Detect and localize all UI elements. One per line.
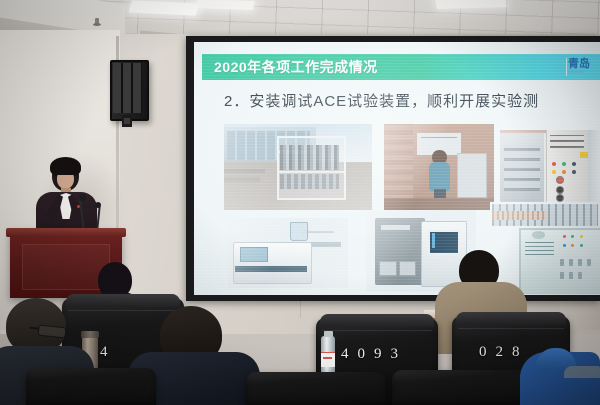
- photo-rails: [504, 144, 540, 190]
- bottle-cap: [324, 331, 333, 337]
- photo-brand-label: [381, 225, 410, 230]
- photo-drawer: [399, 261, 416, 276]
- chair-headrest: [456, 312, 566, 325]
- speaker-mount-bracket: [122, 115, 132, 127]
- microphone-icon: [79, 194, 86, 201]
- slide-header-banner: 2020年各项工作完成情况: [202, 54, 600, 80]
- thermos-cap: [81, 331, 99, 338]
- bottle-label: [321, 352, 335, 367]
- photo-steps: [224, 169, 265, 173]
- photo-instrument-strip: [235, 266, 307, 272]
- seat-number: 028: [479, 344, 529, 361]
- chair: [392, 370, 532, 405]
- speaker-grille: [113, 63, 142, 113]
- photo-toggle-switch: [560, 272, 564, 279]
- photo-toggle-switch: [569, 272, 573, 279]
- slide-photo-benchtop-instrument: [228, 218, 348, 288]
- photo-panel-badge: [532, 231, 545, 238]
- photo-toggle-switch: [569, 259, 573, 266]
- podium-top-surface: [6, 228, 126, 237]
- presenter-fringe: [55, 166, 76, 175]
- sprinkler-icon: [95, 18, 99, 25]
- seat-number: 4: [100, 344, 119, 361]
- slide-logo-divider: [566, 58, 567, 76]
- photo-piping: [280, 145, 339, 171]
- photo-indicator-light: [562, 170, 566, 174]
- projection-screen: 2020年各项工作完成情况 青岛 QINGDAO 2．安装调试ACE试验装置，顺…: [194, 42, 600, 295]
- logo-sub-text: QINGDAO: [568, 70, 585, 75]
- attendee-shoulder: [564, 366, 600, 378]
- photo-knob: [556, 186, 564, 194]
- photo-machine: [457, 153, 488, 198]
- chair-seam: [68, 310, 178, 311]
- photo-copper-coils: [492, 211, 547, 220]
- photo-indicator-light: [552, 170, 556, 174]
- photo-vent-louvers: [550, 135, 584, 148]
- chair: [26, 368, 156, 405]
- photo-piping: [280, 174, 339, 189]
- slide-photo-control-panel: [490, 202, 600, 294]
- photo-toggle-switch: [578, 259, 582, 266]
- photo-indicator-light: [552, 162, 556, 166]
- organization-logo: 青岛 QINGDAO: [568, 56, 598, 78]
- photo-steps: [224, 177, 260, 181]
- photo-instrument-display: [240, 247, 268, 262]
- photo-toggle-switch: [587, 259, 591, 266]
- slide-photo-control-cabinet: [500, 130, 600, 210]
- photo-indicator-light: [572, 162, 576, 166]
- conference-room-photo: 2020年各项工作完成情况 青岛 QINGDAO 2．安装调试ACE试验装置，顺…: [0, 0, 600, 405]
- photo-beaker: [290, 222, 308, 241]
- slide-photo-operator: [384, 124, 494, 210]
- microphone-icon: [95, 202, 101, 208]
- slide-body-text: 2．安装调试ACE试验装置，顺利开展实验测: [224, 90, 600, 111]
- logo-main-text: 青岛: [568, 59, 590, 70]
- chair-seam: [458, 328, 564, 329]
- presentation-slide: 2020年各项工作完成情况 青岛 QINGDAO 2．安装调试ACE试验装置，顺…: [194, 42, 600, 295]
- photo-drawer: [379, 261, 396, 276]
- photo-panel-text: [525, 242, 554, 255]
- photo-side-panel: [588, 130, 600, 210]
- chair-headrest: [320, 314, 434, 327]
- slide-photo-equipment-skid: [224, 124, 372, 210]
- photo-floor: [384, 198, 494, 210]
- photo-toggle-switch: [560, 259, 564, 266]
- photo-toggle-switch: [578, 272, 582, 279]
- chair-seam: [322, 330, 432, 331]
- seat-number: 4093: [341, 346, 407, 363]
- photo-knob: [556, 194, 564, 202]
- photo-indicator-light: [572, 170, 576, 174]
- photo-display-graphic: [432, 233, 435, 248]
- photo-indicator-light: [563, 235, 566, 238]
- podium-front-panel: [22, 244, 110, 290]
- chair-headrest: [66, 294, 180, 307]
- photo-person-body: [429, 162, 450, 191]
- slide-header-title: 2020年各项工作完成情况: [214, 57, 378, 77]
- slide-photo-analyzer: [366, 210, 476, 292]
- chair: [246, 372, 386, 405]
- photo-indicator-light: [562, 162, 566, 166]
